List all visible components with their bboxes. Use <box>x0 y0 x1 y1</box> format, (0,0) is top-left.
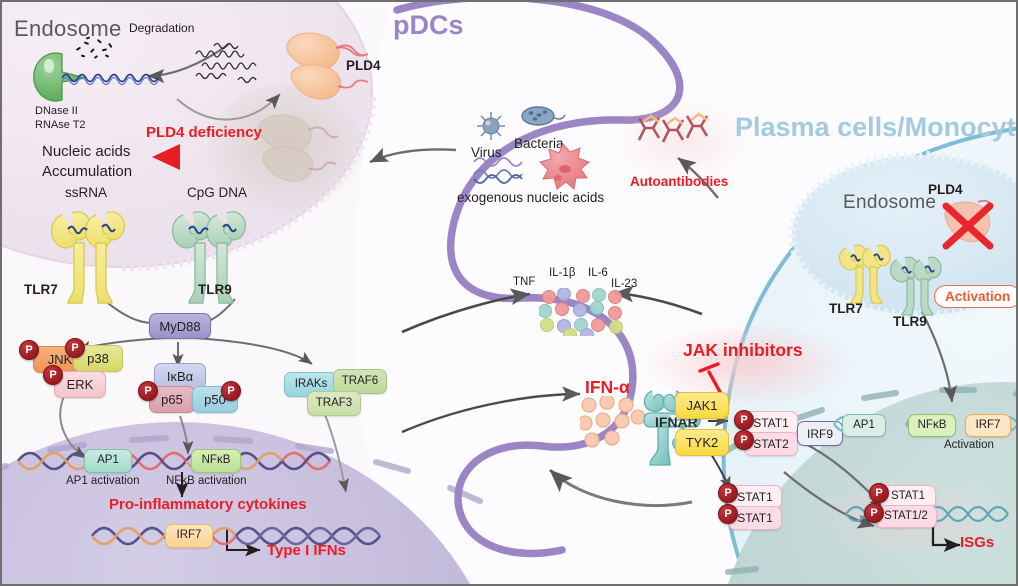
jak-inhibitors-label: JAK inhibitors <box>683 340 803 361</box>
autoantibodies-icon <box>631 106 731 150</box>
ifn-alpha-molecules-icon <box>580 396 650 452</box>
exogenous-nucleic-acids-label: exogenous nucleic acids <box>457 190 604 205</box>
phospho-badge-stat1-c: P <box>718 504 738 524</box>
phospho-badge-stat1-right-b: P <box>864 503 884 523</box>
phospho-badge-jnk: P <box>19 340 39 360</box>
gene-box-nfkb-right[interactable]: NFκB <box>908 414 956 437</box>
pro-inflammatory-cytokines-label: Pro-inflammatory cytokines <box>109 496 307 513</box>
exogenous-nucleic-acid-strands-icon <box>472 154 532 188</box>
cytokine-label-il1b: IL-1β <box>549 267 575 279</box>
tlr9-label-right: TLR9 <box>893 314 927 329</box>
nucleic-acid-strand-icon <box>60 68 170 86</box>
node-tyk2[interactable]: TYK2 <box>675 429 729 456</box>
pdcs-cell-title: pDCs <box>393 10 464 41</box>
phospho-badge-stat1-right-a: P <box>869 483 889 503</box>
figure-canvas: Endosome Degradation DNase II RNAse T2 <box>0 0 1018 586</box>
autoantibodies-label: Autoantibodies <box>630 174 728 189</box>
phospho-badge-p50: P <box>221 381 241 401</box>
gene-box-irf7[interactable]: IRF7 <box>165 524 213 548</box>
nfkb-activation-caption: NFκB activation <box>166 475 247 487</box>
node-jak1[interactable]: JAK1 <box>675 392 729 419</box>
isgs-label: ISGs <box>960 534 994 551</box>
ifn-alpha-label: IFN-α <box>585 377 630 398</box>
degradation-label: Degradation <box>129 21 194 35</box>
cytokine-label-il6: IL-6 <box>588 267 608 279</box>
phospho-badge-p38: P <box>65 338 85 358</box>
pld4-label-left: PLD4 <box>346 58 381 73</box>
cpg-dna-label: CpG DNA <box>187 185 247 200</box>
phospho-badge-p65: P <box>138 381 158 401</box>
node-stat12-right[interactable]: STAT1/2 <box>875 505 937 528</box>
intact-nucleic-acids-icon <box>192 40 280 88</box>
virus-icon <box>475 110 507 142</box>
tlr9-label-left: TLR9 <box>198 282 232 297</box>
tlr7-receptor-icon <box>48 207 144 307</box>
gene-box-irf7-right[interactable]: IRF7 <box>965 414 1011 437</box>
pld4-deficient-protein-icon <box>250 112 340 190</box>
activation-badge[interactable]: Activation <box>934 285 1018 308</box>
activation-caption-right: Activation <box>944 439 994 451</box>
gene-box-ap1-right[interactable]: AP1 <box>842 414 886 437</box>
ap1-activation-caption: AP1 activation <box>66 475 140 487</box>
phospho-badge-erk: P <box>43 365 63 385</box>
tlr7-label-right: TLR7 <box>829 301 863 316</box>
nuclease-label: DNase II RNAse T2 <box>35 105 86 133</box>
bacteria-icon <box>519 102 567 132</box>
gene-box-nfkb[interactable]: NFκB <box>191 449 241 473</box>
pld4-deficiency-label: PLD4 deficiency <box>146 124 262 141</box>
plasma-cell-title: Plasma cells/Monocytes <box>735 112 1018 143</box>
right-endosome-title: Endosome <box>843 192 936 214</box>
gene-box-ap1[interactable]: AP1 <box>84 449 132 473</box>
degraded-fragments-icon <box>74 36 118 62</box>
ssrna-label: ssRNA <box>65 185 107 200</box>
node-myd88[interactable]: MyD88 <box>149 313 211 339</box>
pld4-blocked-icon <box>934 194 1000 260</box>
phospho-badge-stat1-b: P <box>718 483 738 503</box>
node-traf3[interactable]: TRAF3 <box>307 391 361 416</box>
cytokine-cloud-icon <box>539 288 635 336</box>
tlr7-label-left: TLR7 <box>24 282 58 297</box>
phospho-badge-stat1-a: P <box>734 410 754 430</box>
type-i-ifns-label: Type I IFNs <box>267 542 346 559</box>
cytokine-label-tnf: TNF <box>513 276 535 288</box>
nucleic-acid-accumulation-label: Nucleic acids Accumulation <box>42 142 132 183</box>
phospho-badge-stat2: P <box>734 430 754 450</box>
